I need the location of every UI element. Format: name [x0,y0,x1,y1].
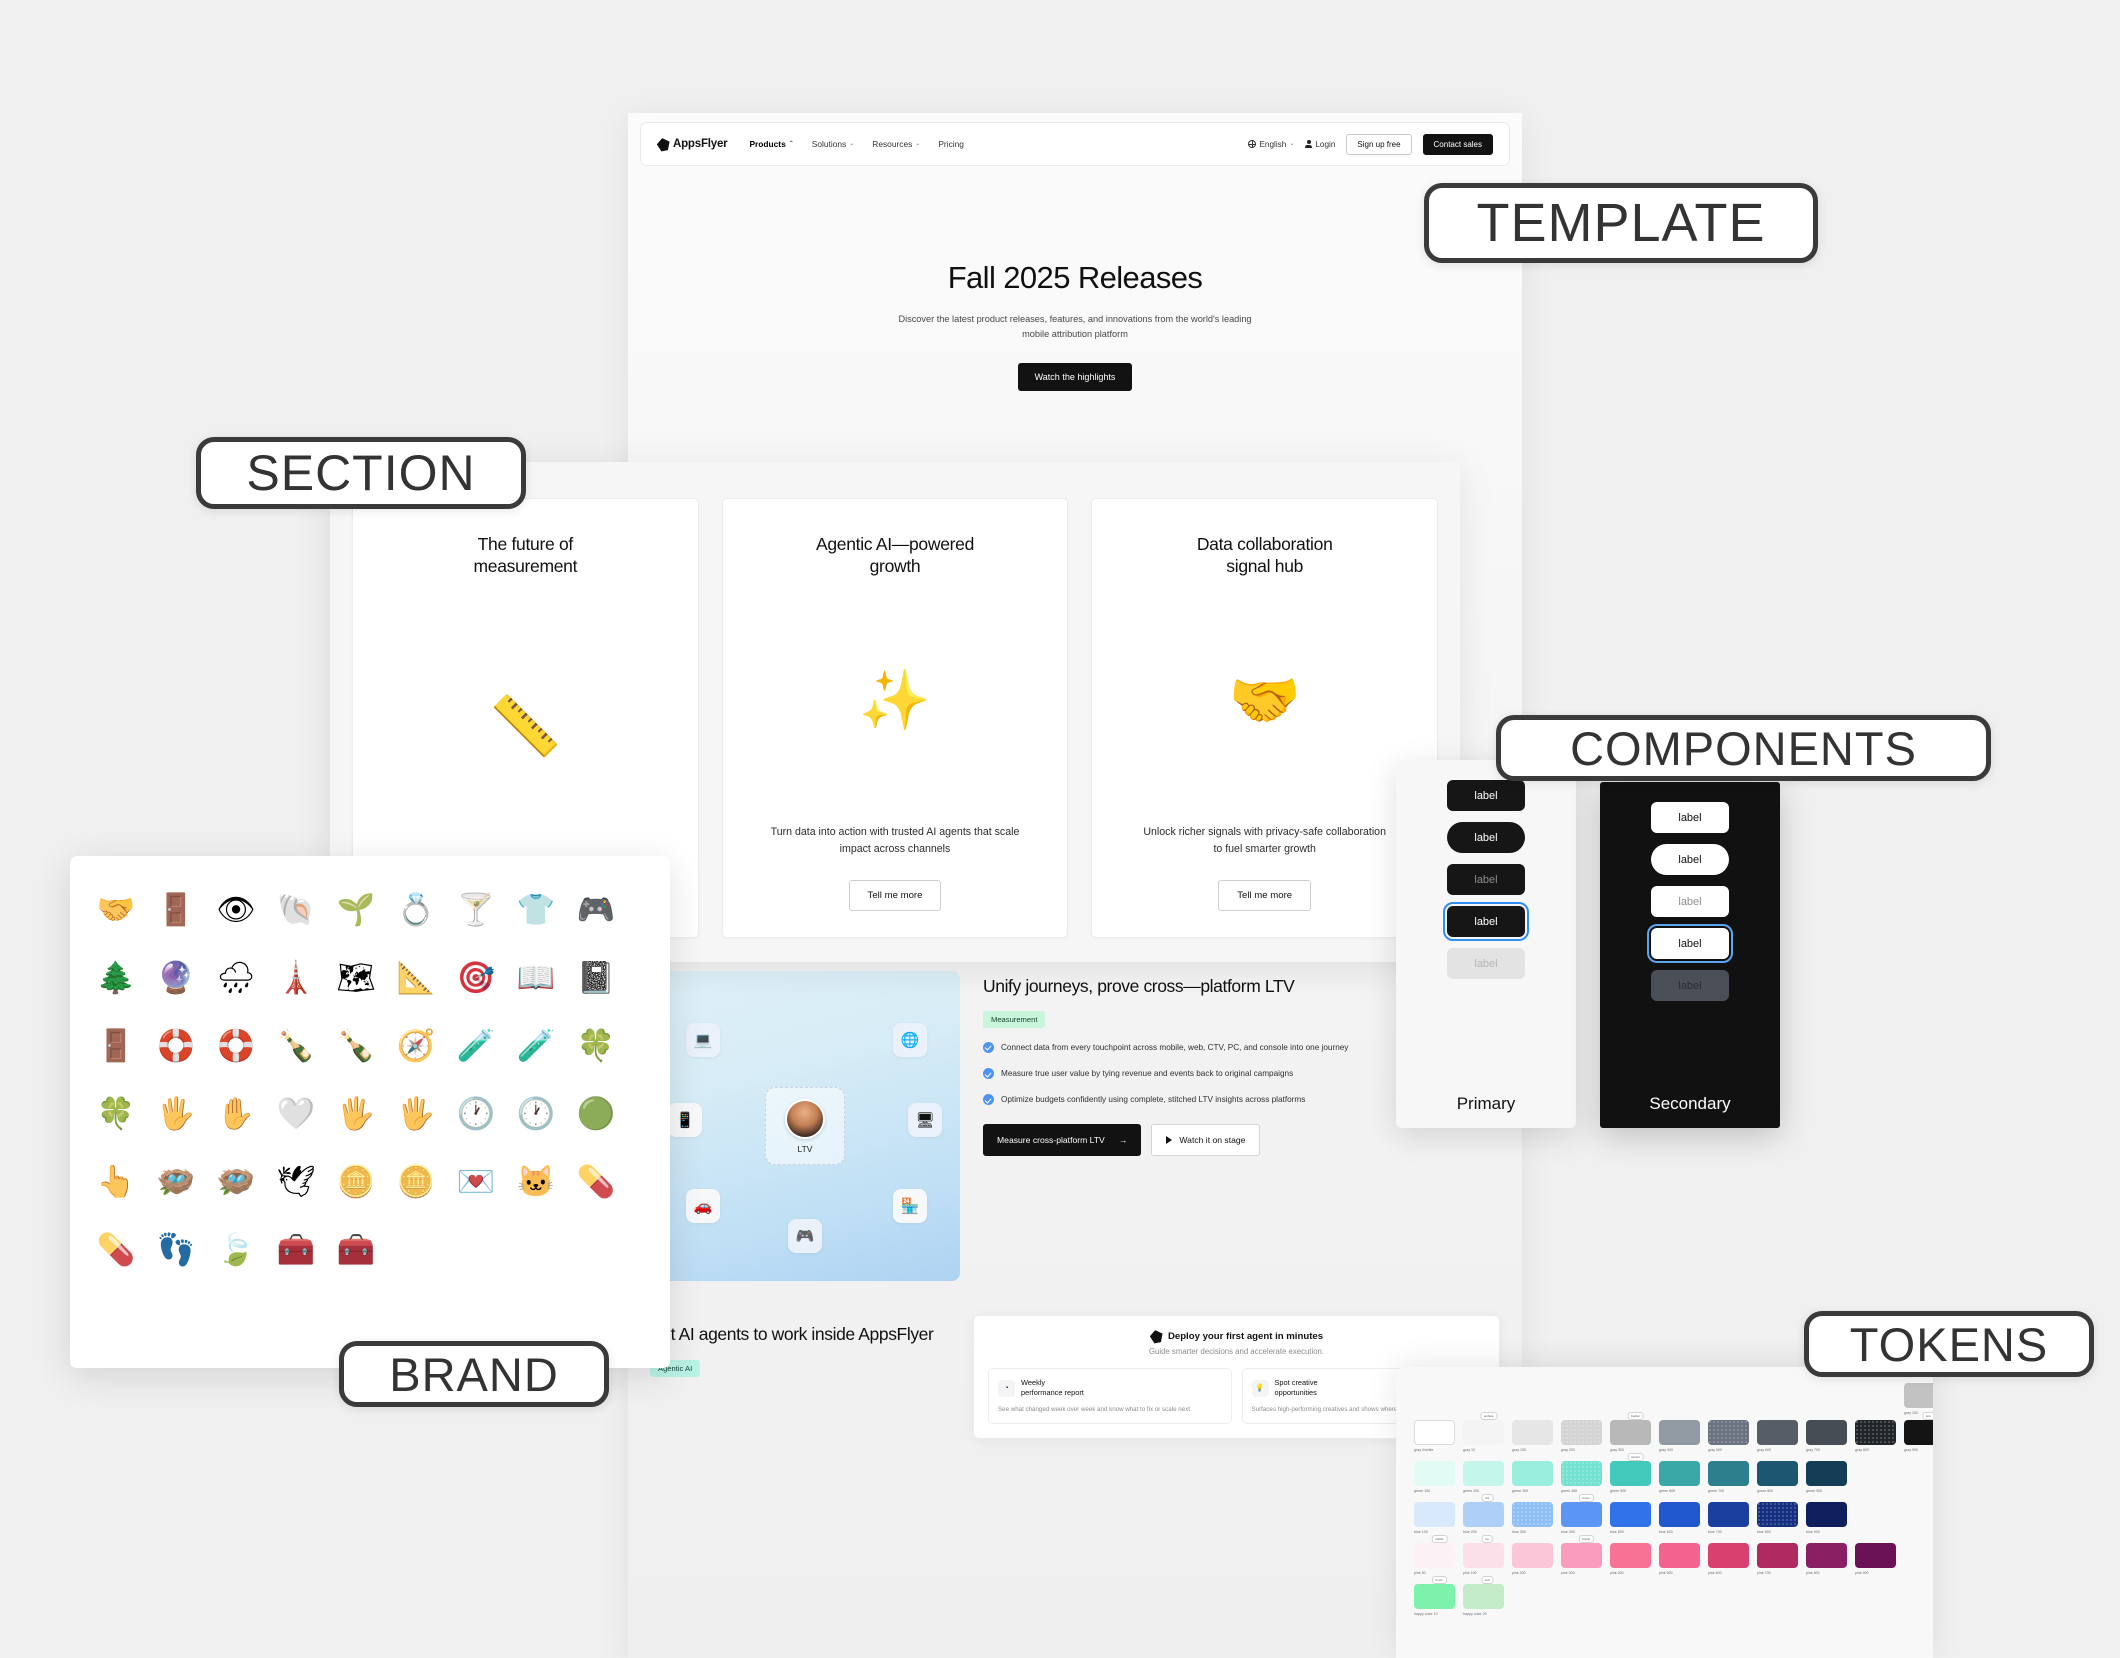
brand-illustration: 🕐 [450,1082,502,1144]
brand-illustration: 🧰 [330,1218,382,1280]
token-swatch [1659,1502,1700,1527]
color-token[interactable]: focusblue 400 [1561,1502,1602,1534]
agent-tile[interactable]: ◔ Weekly performance report See what cha… [988,1368,1232,1424]
brand-illustration: 🍀 [570,1014,622,1076]
token-label: pink 500 [1659,1571,1700,1575]
token-swatch [1757,1461,1798,1486]
feature-card-body: Turn data into action with trusted AI ag… [770,824,1020,858]
brand-illustration: 📖 [510,946,562,1008]
callout-template: TEMPLATE [1424,183,1818,263]
token-swatch [1708,1420,1749,1445]
token-swatch: brand [1561,1543,1602,1568]
color-token[interactable]: blue 600 [1659,1502,1700,1534]
token-swatch [1414,1461,1455,1486]
primary-button-default[interactable]: label [1447,780,1525,811]
color-token[interactable]: pink 200 [1512,1543,1553,1575]
secondary-button-rounded[interactable]: label [1651,844,1729,875]
brand-illustration: 📐 [390,946,442,1008]
color-token[interactable]: green 900 [1806,1461,1847,1493]
tokens-panel: gray 150gray 850 gray 0/whitesurfacegray… [1396,1367,1933,1658]
color-token[interactable]: hi-vishappy color 10 [1414,1584,1455,1616]
token-label: gray 10 [1463,1448,1504,1452]
brand-illustration: 🤍 [270,1082,322,1144]
signup-button[interactable]: Sign up free [1346,134,1411,155]
hero-section: Fall 2025 Releases Discover the latest p… [628,166,1522,391]
site-navbar: AppsFlyer Products ⌃ Solutions ⌄ Resourc… [640,122,1510,166]
brand-illustration: 🍃 [210,1218,262,1280]
node-car-icon: 🚗 [686,1189,720,1223]
token-swatch [1414,1502,1455,1527]
token-label: green 600 [1659,1489,1700,1493]
components-primary-panel: label label label label label Primary [1396,760,1576,1128]
ltv-hub-label: LTV [798,1144,813,1154]
brand-illustration: 🪺 [150,1150,202,1212]
feature-card-title: Data collaboration signal hub [1197,533,1333,578]
chevron-down-icon: ⌄ [849,141,854,147]
color-token[interactable]: gray 100 [1512,1420,1553,1452]
token-label: gray 300 [1610,1448,1651,1452]
node-store-icon: 🏪 [893,1189,927,1223]
primary-caption: Primary [1457,1094,1516,1114]
ai-agents-copy: Put AI agents to work inside AppsFlyer A… [650,1315,950,1439]
brand-illustration: 🍾 [270,1014,322,1076]
token-swatch: text [1904,1420,1933,1445]
brand-illustration: 🕐 [510,1082,562,1144]
brand-illustration: 🐚 [270,878,322,940]
token-swatch [1561,1461,1602,1486]
ltv-actions: Measure cross-platform LTV → Watch it on… [983,1124,1500,1156]
color-token[interactable]: gray 500 [1708,1420,1749,1452]
color-token[interactable]: pink 600 [1708,1543,1749,1575]
token-label: blue 400 [1561,1530,1602,1534]
token-tooltip: hi-vis [1431,1576,1446,1584]
nav-right-group: English ⌄ Login Sign up free Contact sal… [1248,134,1493,155]
token-label: happy color 10 [1414,1612,1455,1616]
token-swatch [1512,1420,1553,1445]
brand-illustration: 📓 [570,946,622,1008]
color-token[interactable]: gray 0/white [1414,1420,1455,1452]
color-token[interactable]: accentgreen 500 [1610,1461,1651,1493]
token-swatch: tint [1463,1502,1504,1527]
login-link[interactable]: Login [1305,140,1335,149]
color-token[interactable]: gray 150 [1904,1383,1933,1415]
color-token[interactable]: blue 300 [1512,1502,1553,1534]
token-tooltip: accent [1627,1453,1644,1461]
token-label: gray 800 [1855,1448,1896,1452]
brand-illustration: 🌱 [330,878,382,940]
token-tooltip: border [1627,1412,1644,1420]
color-token[interactable]: blue 100 [1414,1502,1455,1534]
measure-ltv-button[interactable]: Measure cross-platform LTV → [983,1124,1141,1156]
color-token[interactable]: green 200 [1463,1461,1504,1493]
brand-illustration: 🛟 [210,1014,262,1076]
color-token[interactable]: blue 800 [1757,1502,1798,1534]
token-label: pink 900 [1855,1571,1896,1575]
brand-illustration: 🌧 [210,946,262,1008]
token-swatch: border [1610,1420,1651,1445]
nav-item-solutions[interactable]: Solutions ⌄ [812,139,854,149]
callout-section: SECTION [196,437,526,509]
token-swatch: soft [1463,1584,1504,1609]
token-tooltip: bg [1481,1535,1492,1543]
hero-title: Fall 2025 Releases [628,260,1522,296]
token-label: pink 50 [1414,1571,1455,1575]
brand-illustration: 🖐 [150,1082,202,1144]
feature-card-data-collaboration: Data collaboration signal hub 🤝 Unlock r… [1091,498,1438,938]
brand-illustration: 🍀 [90,1082,142,1144]
token-label: green 200 [1463,1489,1504,1493]
user-icon [1305,140,1312,148]
brand-illustration: 🕊 [270,1150,322,1212]
callout-brand: BRAND [339,1341,609,1407]
token-swatch [1757,1543,1798,1568]
nav-links: Products ⌃ Solutions ⌄ Resources ⌄ Prici… [749,139,964,149]
color-token[interactable]: brandpink 300 [1561,1543,1602,1575]
node-game-controller-icon: 🎮 [788,1219,822,1253]
brand-illustration: 💊 [570,1150,622,1212]
feature-card-title: The future of measurement [473,533,577,578]
token-label: pink 100 [1463,1571,1504,1575]
token-label: blue 300 [1512,1530,1553,1534]
color-token[interactable]: gray 700 [1806,1420,1847,1452]
primary-button-disabled: label [1447,948,1525,979]
ltv-block: 💻 🌐 📱 🖥 🚗 🎮 🏪 LTV Unify journeys, prove … [628,941,1522,1281]
token-swatch [1659,1543,1700,1568]
illustration-grid: 🤝🚪👁🐚🌱💍🍸👕🎮🌲🔮🌧🗼🗺📐🎯📖📓🚪🛟🛟🍾🍾🧭🧪🧪🍀🍀🖐✋🤍🖐🖐🕐🕐🟢👆🪺🪺🕊… [90,878,650,1280]
globe-icon [1248,140,1256,148]
brand-illustration: 🐱 [510,1150,562,1212]
token-label: green 700 [1708,1489,1749,1493]
color-token[interactable]: gray 200 [1561,1420,1602,1452]
ai-agents-block: Put AI agents to work inside AppsFlyer A… [628,1281,1522,1439]
token-label: blue 100 [1414,1530,1455,1534]
brand-illustration: 🧰 [270,1218,322,1280]
brand-illustration: 🪙 [390,1150,442,1212]
token-swatch: focus [1561,1502,1602,1527]
nav-item-products[interactable]: Products ⌃ [749,139,793,149]
token-spacer [1806,1383,1847,1415]
chevron-down-icon: ⌄ [915,141,920,147]
brand-illustration: 🚪 [150,878,202,940]
bullet-text: Measure true user value by tying revenue… [1001,1067,1293,1080]
brand-illustration: 💊 [90,1218,142,1280]
color-token[interactable]: blue 500 [1610,1502,1651,1534]
token-label: gray 900 [1904,1448,1933,1452]
token-tooltip: subtle [1431,1535,1447,1543]
callout-components: COMPONENTS [1496,715,1991,781]
brand-illustration: 💍 [390,878,442,940]
measurement-tag: Measurement [983,1011,1045,1028]
watch-on-stage-button[interactable]: Watch it on stage [1151,1124,1260,1156]
brand-illustration: 🪙 [330,1150,382,1212]
color-token[interactable]: gray 800 [1855,1420,1896,1452]
token-row-blue: blue 100tintblue 200blue 300focusblue 40… [1414,1502,1915,1534]
nav-item-pricing[interactable]: Pricing [938,139,964,149]
token-swatch: accent [1610,1461,1651,1486]
token-label: pink 600 [1708,1571,1749,1575]
token-swatch [1757,1420,1798,1445]
components-secondary-panel: label label label label label Secondary [1600,782,1780,1128]
token-label: gray 700 [1806,1448,1847,1452]
brand-illustration: 🍸 [450,878,502,940]
avatar [785,1099,825,1139]
token-swatch [1512,1502,1553,1527]
feature-card-title: Agentic AI—powered growth [816,533,974,578]
token-label: blue 800 [1757,1530,1798,1534]
agent-tile-title: Weekly performance report [1021,1378,1084,1398]
brand-illustration: 👕 [510,878,562,940]
handshake-icon: 🤝 [1114,578,1415,824]
check-icon [983,1042,994,1053]
token-label: pink 300 [1561,1571,1602,1575]
color-token[interactable]: green 700 [1708,1461,1749,1493]
brand-illustration: 🔮 [150,946,202,1008]
tokens-rows: gray 0/whitesurfacegray 10gray 100gray 2… [1414,1420,1915,1616]
secondary-button-hover[interactable]: label [1651,886,1729,917]
token-spacer [1512,1383,1553,1415]
token-label: green 400 [1561,1489,1602,1493]
color-token[interactable]: green 600 [1659,1461,1700,1493]
pie-chart-icon: ◔ [998,1380,1015,1397]
token-spacer [1414,1383,1455,1415]
token-label: gray 0/white [1414,1448,1455,1452]
tell-me-more-button[interactable]: Tell me more [849,880,942,911]
measuring-tape-icon: 📏 [375,578,676,877]
token-row-green: green 100green 200green 300green 400acce… [1414,1461,1915,1493]
brand-illustration: 🤝 [90,878,142,940]
check-icon [983,1068,994,1079]
brand-illustration: 🛟 [150,1014,202,1076]
token-label: green 900 [1806,1489,1847,1493]
appsflyer-wordmark: AppsFlyer [673,138,727,150]
color-token[interactable]: bordergray 300 [1610,1420,1651,1452]
token-swatch [1806,1543,1847,1568]
tell-me-more-button[interactable]: Tell me more [1218,880,1311,911]
brand-illustration: 🎮 [570,878,622,940]
token-swatch [1806,1461,1847,1486]
token-label: green 100 [1414,1489,1455,1493]
secondary-button-focused[interactable]: label [1651,928,1729,959]
token-swatch: hi-vis [1414,1584,1455,1609]
check-icon [983,1094,994,1105]
deploy-card-subtitle: Guide smarter decisions and accelerate e… [988,1347,1485,1356]
language-selector[interactable]: English ⌄ [1248,140,1294,149]
appsflyer-mark-icon [1150,1330,1163,1343]
token-swatch: subtle [1414,1543,1455,1568]
token-label: green 300 [1512,1489,1553,1493]
token-label: blue 900 [1806,1530,1847,1534]
token-row-gray: gray 0/whitesurfacegray 10gray 100gray 2… [1414,1420,1915,1452]
token-label: green 800 [1757,1489,1798,1493]
secondary-button-default[interactable]: label [1651,802,1729,833]
secondary-caption: Secondary [1649,1094,1730,1114]
brand-illustration: 👁 [210,878,262,940]
nav-item-resources[interactable]: Resources ⌄ [872,139,920,149]
primary-button-focused[interactable]: label [1447,906,1525,937]
contact-sales-button[interactable]: Contact sales [1423,134,1493,155]
token-swatch [1708,1502,1749,1527]
play-icon [1166,1136,1172,1144]
token-row-pink: subtlepink 50bgpink 100pink 200brandpink… [1414,1543,1915,1575]
token-spacer [1561,1383,1602,1415]
deploy-card-title: Deploy your first agent in minutes [1168,1331,1323,1342]
brand-illustration: 👆 [90,1150,142,1212]
color-token[interactable]: pink 500 [1659,1543,1700,1575]
color-token[interactable]: gray 600 [1757,1420,1798,1452]
color-token[interactable]: softhappy color 20 [1463,1584,1504,1616]
color-token[interactable]: pink 800 [1806,1543,1847,1575]
token-swatch [1463,1461,1504,1486]
token-swatch [1610,1502,1651,1527]
color-token[interactable]: pink 700 [1757,1543,1798,1575]
token-tooltip: soft [1481,1576,1494,1584]
token-swatch [1806,1502,1847,1527]
token-swatch [1512,1543,1553,1568]
token-label: gray 200 [1561,1448,1602,1452]
brand-illustration: 🚪 [90,1014,142,1076]
token-label: gray 400 [1659,1448,1700,1452]
token-tooltip: focus [1578,1494,1593,1502]
color-token[interactable]: green 100 [1414,1461,1455,1493]
ai-agents-title: Put AI agents to work inside AppsFlyer [650,1323,950,1346]
token-swatch: surface [1463,1420,1504,1445]
feature-card-agentic-ai: Agentic AI—powered growth ✨ Turn data in… [722,498,1069,938]
chevron-up-icon: ⌃ [789,141,794,147]
token-spacer [1659,1383,1700,1415]
secondary-button-disabled: label [1651,970,1729,1001]
bullet-text: Connect data from every touchpoint acros… [1001,1041,1348,1054]
token-swatch [1659,1461,1700,1486]
token-spacer [1855,1383,1896,1415]
chevron-down-icon: ⌄ [1289,141,1294,147]
token-swatch [1757,1502,1798,1527]
brand-illustration: 🎯 [450,946,502,1008]
ltv-hub: LTV [765,1087,845,1165]
stairs-sparkle-icon: ✨ [745,578,1046,824]
token-label: blue 200 [1463,1530,1504,1534]
token-swatch [1659,1420,1700,1445]
token-label: gray 100 [1512,1448,1553,1452]
token-tooltip: brand [1578,1535,1594,1543]
brand-illustration: 👣 [150,1218,202,1280]
token-label: gray 600 [1757,1448,1798,1452]
brand-illustration: 🍾 [330,1014,382,1076]
brand-illustration: ✋ [210,1082,262,1144]
token-swatch [1610,1543,1651,1568]
node-globe-icon: 🌐 [893,1023,927,1057]
token-tooltip: text [1922,1412,1933,1420]
brand-illustration: 💌 [450,1150,502,1212]
token-tooltip: tint [1481,1494,1493,1502]
token-label: pink 800 [1806,1571,1847,1575]
brand-illustration: 🗼 [270,946,322,1008]
token-label: pink 200 [1512,1571,1553,1575]
agent-tile-title: Spot creative opportunities [1275,1378,1318,1398]
primary-button-hover[interactable]: label [1447,864,1525,895]
appsflyer-logo[interactable]: AppsFlyer [657,138,727,151]
color-token[interactable]: green 400 [1561,1461,1602,1493]
token-row-happy-color: hi-vishappy color 10softhappy color 20 [1414,1584,1915,1616]
brand-illustration: 🧭 [390,1014,442,1076]
color-token[interactable]: tintblue 200 [1463,1502,1504,1534]
color-token[interactable]: surfacegray 10 [1463,1420,1504,1452]
token-swatch: bg [1463,1543,1504,1568]
token-swatch [1708,1461,1749,1486]
watch-highlights-button[interactable]: Watch the highlights [1018,363,1133,391]
token-label: blue 600 [1659,1530,1700,1534]
brand-illustration: 🗺 [330,946,382,1008]
token-swatch [1512,1461,1553,1486]
feature-card-body: Unlock richer signals with privacy-safe … [1140,824,1390,858]
brand-illustration: 🧪 [450,1014,502,1076]
token-label: gray 500 [1708,1448,1749,1452]
token-label: pink 700 [1757,1571,1798,1575]
color-token[interactable]: blue 900 [1806,1502,1847,1534]
token-swatch [1708,1543,1749,1568]
token-label: pink 400 [1610,1571,1651,1575]
token-spacer [1610,1383,1651,1415]
brand-illustration: 🌲 [90,946,142,1008]
color-token[interactable]: pink 900 [1855,1543,1896,1575]
token-swatch [1414,1420,1455,1445]
arrow-right-icon: → [1119,1135,1128,1145]
brand-illustration: 🧪 [510,1014,562,1076]
token-spacer [1708,1383,1749,1415]
bullet-text: Optimize budgets confidently using compl… [1001,1093,1305,1106]
node-laptop-icon: 💻 [686,1023,720,1057]
token-tooltip: surface [1480,1412,1498,1420]
color-token[interactable]: blue 700 [1708,1502,1749,1534]
token-label: blue 500 [1610,1530,1651,1534]
node-monitor-icon: 🖥 [908,1103,942,1137]
token-label: green 500 [1610,1489,1651,1493]
lightbulb-icon: 💡 [1252,1380,1269,1397]
token-label: happy color 20 [1463,1612,1504,1616]
hero-subtitle: Discover the latest product releases, fe… [885,312,1265,342]
token-spacer [1463,1383,1504,1415]
color-token[interactable]: green 300 [1512,1461,1553,1493]
token-swatch [1855,1420,1896,1445]
color-token[interactable]: pink 400 [1610,1543,1651,1575]
ltv-diagram: 💻 🌐 📱 🖥 🚗 🎮 🏪 LTV [650,971,960,1281]
agent-tile-body: See what changed week over week and know… [998,1405,1222,1414]
brand-illustration: 🖐 [390,1082,442,1144]
brand-illustration: 🪺 [210,1150,262,1212]
color-token[interactable]: textgray 900 [1904,1420,1933,1452]
brand-illustration: 🖐 [330,1082,382,1144]
color-token[interactable]: gray 400 [1659,1420,1700,1452]
color-token[interactable]: subtlepink 50 [1414,1543,1455,1575]
primary-button-rounded[interactable]: label [1447,822,1525,853]
tokens-top-row: gray 150gray 850 [1414,1383,1915,1415]
callout-tokens: TOKENS [1804,1311,2094,1377]
color-token[interactable]: green 800 [1757,1461,1798,1493]
token-label: blue 700 [1708,1530,1749,1534]
token-swatch [1561,1420,1602,1445]
color-token[interactable]: bgpink 100 [1463,1543,1504,1575]
brand-illustration: 🟢 [570,1082,622,1144]
token-swatch [1806,1420,1847,1445]
token-spacer [1757,1383,1798,1415]
node-phone-icon: 📱 [668,1103,702,1137]
appsflyer-mark-icon [657,138,670,151]
token-swatch [1855,1543,1896,1568]
brand-panel: 🤝🚪👁🐚🌱💍🍸👕🎮🌲🔮🌧🗼🗺📐🎯📖📓🚪🛟🛟🍾🍾🧭🧪🧪🍀🍀🖐✋🤍🖐🖐🕐🕐🟢👆🪺🪺🕊… [70,856,670,1368]
